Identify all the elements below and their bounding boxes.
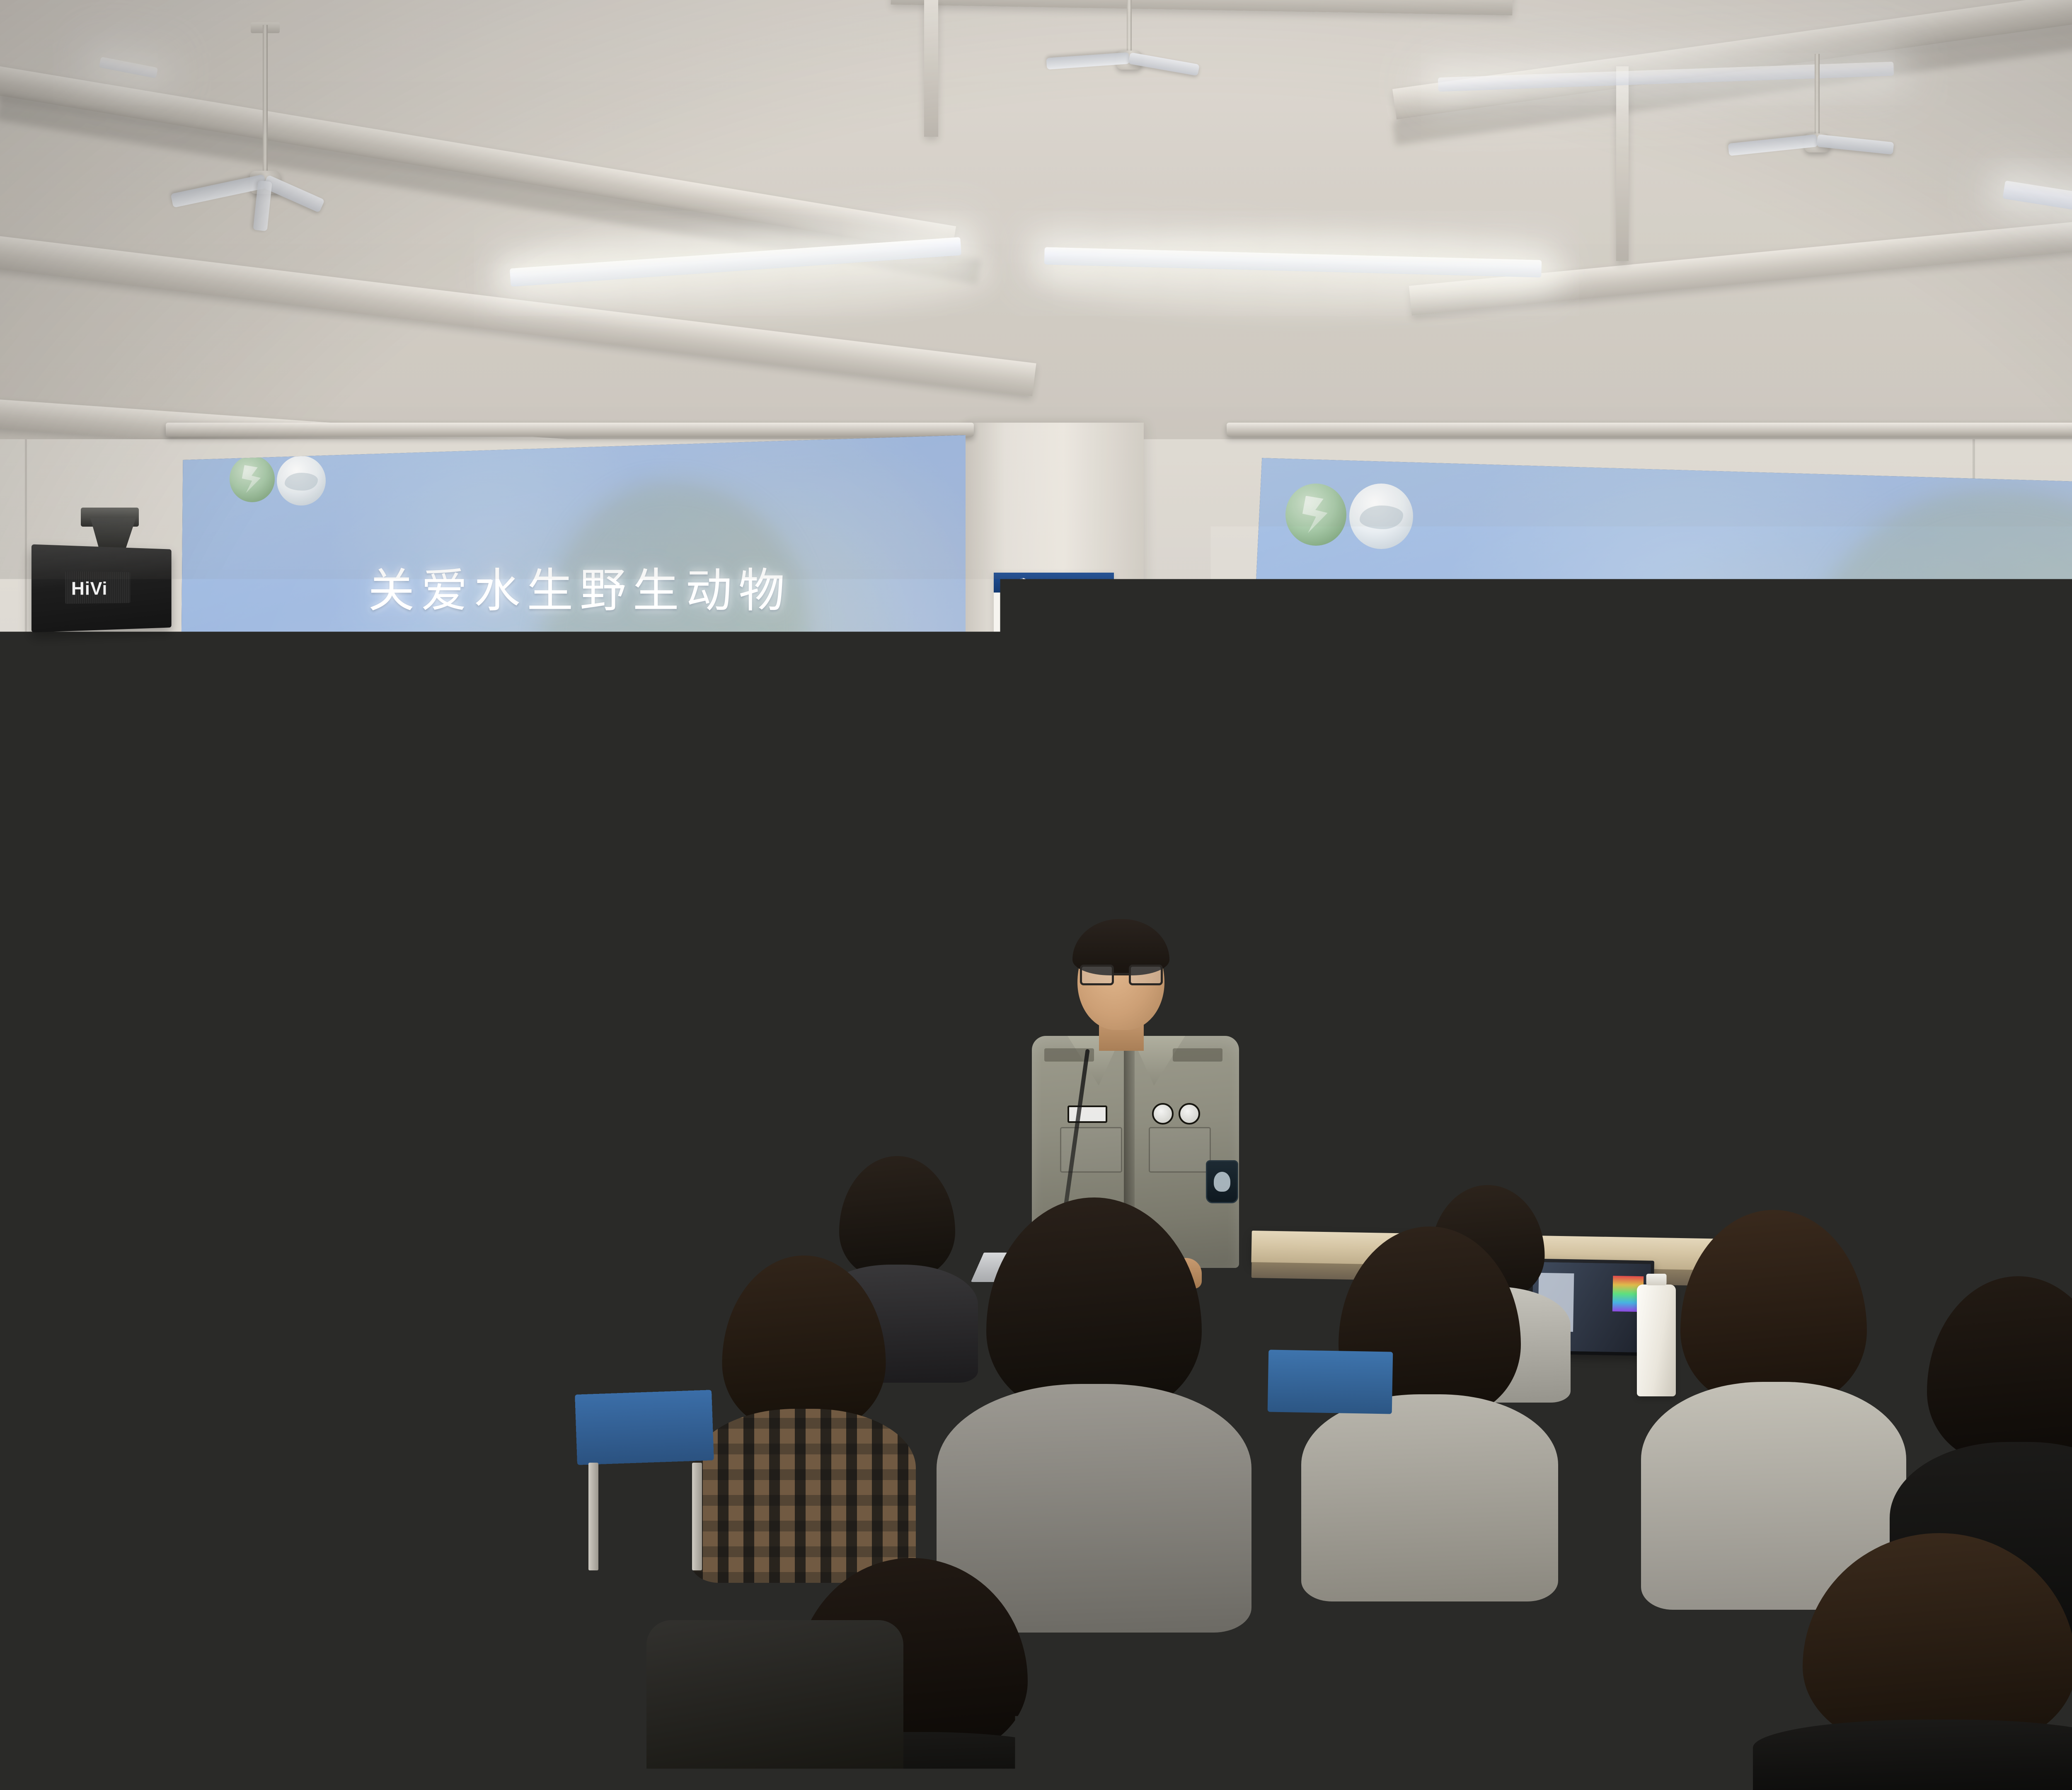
left-slide-footer: 广西合浦儒艮国家级自然保护区管理中心 吴沅珈 2025年12月5日: [210, 850, 934, 939]
right-slide-title: 关爱水生野生动物 维护海洋生物多样性: [1302, 578, 2072, 774]
presenter-glasses-icon: [1080, 965, 1163, 986]
chair-frame: [588, 1463, 598, 1570]
right-slide-date: 2025年12月5日: [1269, 944, 2072, 996]
wall-speaker: HiVi: [31, 544, 172, 633]
nature-reserve-emblem-icon: [1285, 484, 1346, 546]
ceiling-fan: [249, 25, 282, 186]
presenter-round-badge-icon: [1152, 1103, 1174, 1125]
left-slide-org-line: 广西合浦儒艮国家级自然保护区管理中心 吴沅珈: [210, 850, 934, 891]
right-slide-footer: 广西合浦儒艮国家级自然保护区管理中心 吴沅珈 2025年12月5日: [1269, 883, 2072, 996]
rules-poster-title: 机房管理制度: [994, 598, 1114, 614]
left-slide-organization: 广西合浦儒艮国家级自然保护区管理中心: [309, 858, 720, 883]
left-screen-roller: [166, 423, 974, 437]
core-values-heading-line2: 核心价值观: [1012, 859, 1097, 871]
ceiling-drop-panel: [1616, 66, 1629, 261]
core-values-row-1: 富强 民主 文明 和谐: [1012, 878, 1097, 889]
core-values-heading: 社会主义 核心价值观: [1012, 846, 1097, 871]
left-projection-screen: 关爱水生野生动物 维护海洋生物多样性 广西合浦儒艮国家级自然保护区管理中心 吴沅…: [178, 435, 966, 1028]
student: [692, 1255, 916, 1583]
left-slide-title-line2: 维护海洋生物多样性: [225, 629, 934, 704]
left-slide-title-line1: 关爱水生野生动物: [225, 554, 934, 629]
nature-reserve-emblem-icon: [230, 456, 275, 502]
left-slide-title: 关爱水生野生动物 维护海洋生物多样性: [225, 554, 934, 704]
chair-back: [575, 1390, 714, 1465]
bottle-cap: [1256, 1149, 1275, 1161]
right-slide-emblems: [1285, 484, 1413, 549]
core-values-heading-line1: 社会主义: [1012, 846, 1097, 859]
right-projection-screen: 关爱水生野生动物 维护海洋生物多样性 广西合浦儒艮国家级自然保护区管理中心 吴沅…: [1235, 452, 2072, 1086]
presenter-chest-pocket: [1149, 1127, 1211, 1173]
ceiling-drop-panel: [924, 0, 938, 137]
presenter-round-badge-icon: [1179, 1103, 1200, 1125]
rules-poster-header: 北海艺术设计学院: [994, 573, 1114, 593]
torch-icon: [1039, 783, 1071, 823]
chair-frame: [692, 1463, 702, 1570]
school-logo-icon: [1018, 578, 1027, 587]
left-slide-emblems: [230, 456, 326, 506]
rules-poster-body: [1003, 619, 1106, 718]
left-slide-date: 2025年12月5日: [210, 898, 934, 939]
right-slide-organization: 广西合浦儒艮国家级自然保护区管理中心: [1464, 893, 1985, 924]
left-slide-presenter: 吴沅珈: [766, 858, 835, 883]
right-screen-roller: [1227, 423, 2072, 437]
wall-seam: [25, 439, 27, 1102]
left-slide: 关爱水生野生动物 维护海洋生物多样性 广西合浦儒艮国家级自然保护区管理中心 吴沅…: [178, 435, 966, 1028]
right-slide: 关爱水生野生动物 维护海洋生物多样性 广西合浦儒艮国家级自然保护区管理中心 吴沅…: [1235, 452, 2072, 1086]
ceiling-fan: [1803, 54, 1832, 145]
chalk-tray: [32, 1089, 923, 1100]
fishery-emblem-icon: [277, 456, 325, 506]
classroom-photo-scene: 关爱水生野生动物 维护海洋生物多样性 广西合浦儒艮国家级自然保护区管理中心 吴沅…: [0, 0, 2072, 1790]
presenter-arm-patch-icon: [1206, 1160, 1238, 1203]
core-values-row-2: 自由 平等 公正 法治: [1012, 894, 1097, 905]
right-slide-title-line1: 关爱水生野生动物: [1302, 578, 2072, 677]
fishery-emblem-icon: [1349, 484, 1414, 549]
presenter-epaulette: [1173, 1048, 1222, 1062]
ceiling-fan: [1115, 0, 1144, 62]
presenter-name-badge: [1067, 1105, 1107, 1123]
chair-back: [1268, 1350, 1393, 1414]
rules-poster: 北海艺术设计学院 机房管理制度: [994, 573, 1114, 738]
light-bloom: [1036, 232, 1575, 315]
right-slide-presenter: 吴沅珈: [2046, 893, 2072, 924]
floor: [0, 1599, 2072, 1790]
rules-poster-header-text: 北海艺术设计学院: [1031, 578, 1089, 588]
right-slide-org-line: 广西合浦儒艮国家级自然保护区管理中心 吴沅珈: [1269, 883, 2072, 934]
right-slide-title-line2: 维护海洋生物多样性: [1302, 677, 2072, 775]
speaker-brand-label: HiVi: [71, 578, 107, 599]
light-bloom: [497, 232, 995, 315]
school-logo-icon: [1019, 962, 1028, 971]
